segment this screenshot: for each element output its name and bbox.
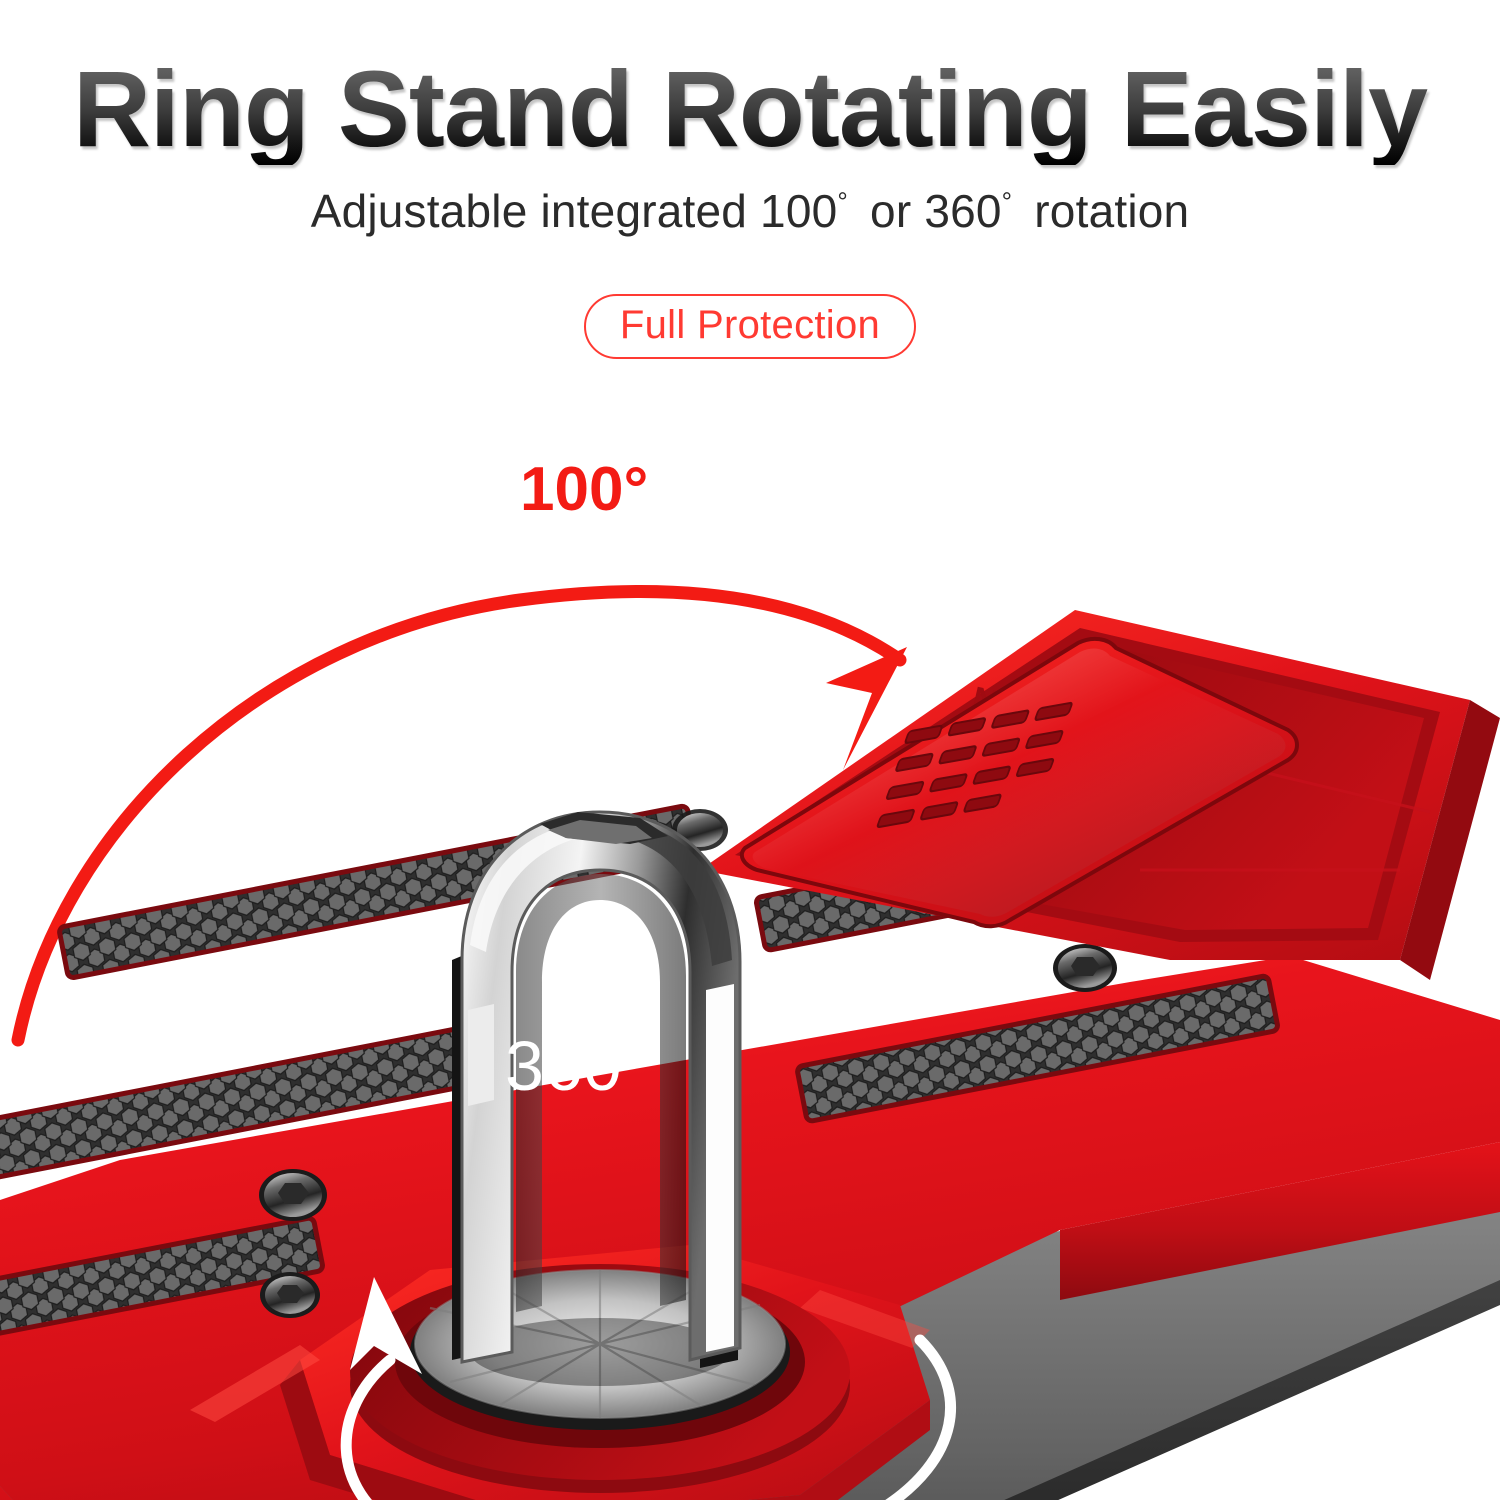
subtitle-part-after: rotation — [1034, 185, 1189, 237]
full-protection-badge: Full Protection — [584, 294, 916, 359]
hex-screw — [260, 1272, 320, 1318]
page-subtitle: Adjustable integrated 100°or 360°rotatio… — [0, 184, 1500, 238]
ring-highlight-left-edge — [468, 1004, 494, 1106]
hex-screw — [1053, 944, 1117, 992]
subtitle-part-middle: or 360 — [870, 185, 1002, 237]
degree-symbol-360: ° — [1002, 187, 1013, 217]
tilt-angle-label: 100° — [520, 455, 648, 524]
hex-screw — [259, 1169, 327, 1221]
subtitle-part-before: Adjustable integrated 100 — [311, 185, 838, 237]
phone-case: DISCOVER INNOVATION — [0, 610, 1500, 1500]
page-title: Ring Stand Rotating Easily — [0, 52, 1500, 165]
rotate-angle-label: 360° — [505, 1027, 650, 1105]
product-illustration: 100° — [0, 400, 1500, 1500]
ring-highlight-right-edge — [706, 984, 734, 1352]
badge-container: Full Protection — [0, 294, 1500, 359]
degree-symbol-100: ° — [837, 187, 848, 217]
